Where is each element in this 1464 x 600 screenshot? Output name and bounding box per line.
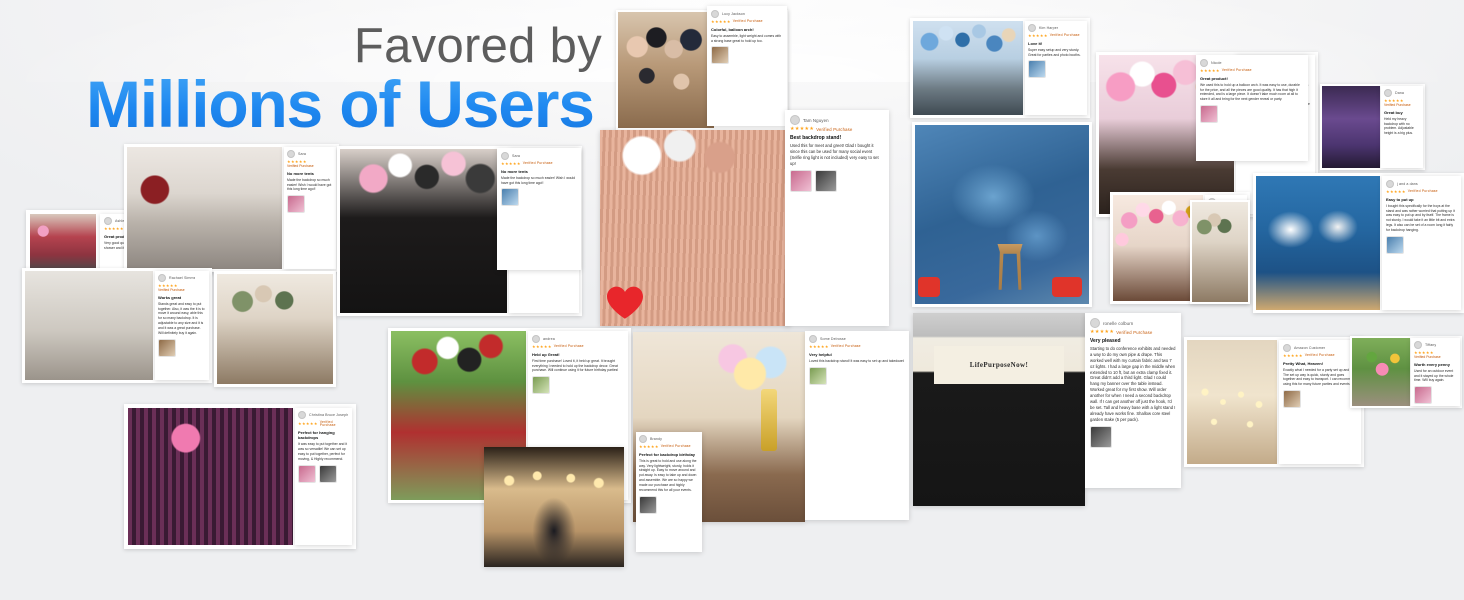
verified-purchase-badge: Verified Purchase xyxy=(1222,69,1252,72)
review-header: j and a dans xyxy=(1386,180,1457,188)
reviewer-name: andrea xyxy=(543,337,555,341)
review-body: It was easy to put together and it was s… xyxy=(298,442,349,461)
red-sandbag-right xyxy=(1052,277,1082,297)
verified-purchase-badge: Verified Purchase xyxy=(1305,354,1335,357)
stars-glyph: ★★★★★ xyxy=(809,345,829,349)
verified-purchase-badge: Verified Purchase xyxy=(1116,331,1152,335)
review-body: Used this for meet and greet! Glad I bou… xyxy=(790,143,884,167)
photo-balloon-arch-black-gold-number-2 xyxy=(618,12,714,128)
review-title: No more tents xyxy=(287,171,333,176)
review-thumbnails[interactable] xyxy=(501,188,577,206)
review-photo-thumbnail[interactable] xyxy=(639,496,657,514)
review-header: andrea xyxy=(532,335,624,343)
avatar xyxy=(711,10,719,18)
review-body: Easy to assemble, light weight and comes… xyxy=(711,34,783,44)
avatar xyxy=(1200,59,1208,67)
review-card[interactable]: Tam Nguyen ★★★★★ Verified Purchase Best … xyxy=(785,110,889,326)
verified-purchase-badge: Verified Purchase xyxy=(320,421,349,428)
reviewer-name: Sara xyxy=(298,152,306,156)
review-thumbnails[interactable] xyxy=(1414,386,1457,404)
avatar xyxy=(287,150,295,158)
review-title: Worth every penny xyxy=(1414,362,1457,367)
review-card[interactable]: Kim Harper ★★★★★ Verified Purchase Love … xyxy=(1025,21,1087,115)
gold-number-one-balloon xyxy=(761,389,777,451)
reviewer-name: Some Delrosse xyxy=(820,337,846,341)
review-photo-thumbnail[interactable] xyxy=(287,195,305,213)
star-rating: ★★★★★ Verified Purchase xyxy=(1386,190,1457,194)
review-card[interactable]: Amazon Customer ★★★★★ Verified Purchase … xyxy=(1279,340,1361,464)
review-thumbnails[interactable] xyxy=(532,376,624,394)
verified-purchase-badge: Verified Purchase xyxy=(1408,190,1438,193)
star-rating: ★★★★★ Verified Purchase xyxy=(1200,69,1304,73)
review-title: Works great xyxy=(158,295,206,300)
review-header: Some Delrosse xyxy=(809,335,905,343)
star-rating: ★★★★★ Verified Purchase xyxy=(639,445,699,449)
review-photo-thumbnail[interactable] xyxy=(501,188,519,206)
review-card[interactable]: Dana ★★★★★ Verified Purchase Great buy H… xyxy=(1381,86,1423,168)
review-title: Easy to put up xyxy=(1386,197,1457,202)
review-thumbnails[interactable] xyxy=(639,496,699,514)
review-title: No more tents xyxy=(501,169,577,174)
review-thumbnails[interactable] xyxy=(1090,426,1176,448)
review-thumbnails[interactable] xyxy=(790,170,884,192)
star-rating: ★★★★★ Verified Purchase xyxy=(501,162,577,166)
review-body: Exactly what I needed for a party set up… xyxy=(1283,368,1357,387)
photo-shark-ocean-mural-backdrop xyxy=(1256,176,1380,310)
photo-neutral-balloon-garland-macrame xyxy=(25,271,153,380)
review-thumbnails[interactable] xyxy=(298,465,349,483)
review-card[interactable]: Tiffany ★★★★★ Verified Purchase Worth ev… xyxy=(1411,338,1460,406)
review-body: I bought this specifically for the boys … xyxy=(1386,204,1457,233)
reviewer-name: Sara xyxy=(512,154,520,158)
avatar xyxy=(1090,318,1100,328)
reviewer-name: Dana xyxy=(1395,91,1404,95)
avatar xyxy=(1384,89,1392,97)
review-photo-thumbnail[interactable] xyxy=(711,46,729,64)
review-header: Nicole xyxy=(1200,59,1304,67)
review-card[interactable]: Sara ★★★★★ Verified Purchase No more ten… xyxy=(497,148,581,270)
photo-lifepurposenow-conference-booth[interactable]: LifePurposeNow! xyxy=(913,313,1085,506)
review-card[interactable]: Some Delrosse ★★★★★ Verified Purchase Ve… xyxy=(805,331,909,520)
review-photo-thumbnail[interactable] xyxy=(1200,105,1218,123)
photo-purple-draped-backdrop xyxy=(1322,86,1380,168)
reviewer-name: j and a dans xyxy=(1397,182,1418,186)
avatar xyxy=(298,411,306,419)
headline-line-2: Millions of Users xyxy=(86,69,606,140)
review-thumbnails[interactable] xyxy=(287,195,333,213)
avatar xyxy=(1028,24,1036,32)
red-sandbag-left xyxy=(918,277,940,297)
collage-tile[interactable]: Dana ★★★★★ Verified Purchase Great buy H… xyxy=(1320,84,1425,170)
review-photo-thumbnail[interactable] xyxy=(532,376,550,394)
review-body: Stands great and easy to put together. A… xyxy=(158,302,206,336)
star-rating: ★★★★★ Verified Purchase xyxy=(790,127,884,132)
review-body: Held my heavy backdrop with no problem. … xyxy=(1384,117,1420,136)
reviewer-name: Nicole xyxy=(1211,61,1222,65)
review-header: ronelle colburn xyxy=(1090,318,1176,328)
avatar xyxy=(532,335,540,343)
review-header: Tam Nguyen xyxy=(790,115,884,125)
collage-tile[interactable]: Christina Bruce Joseph ★★★★★ Verified Pu… xyxy=(124,404,356,549)
review-title: Great product! xyxy=(1200,76,1304,81)
review-body: Made the backdrop so much easier! Wish I… xyxy=(287,178,333,192)
review-thumbnails[interactable] xyxy=(1028,60,1084,78)
avatar xyxy=(809,335,817,343)
stars-glyph: ★★★★★ xyxy=(639,445,659,449)
stars-glyph: ★★★★★ xyxy=(1200,69,1220,73)
review-card[interactable]: Lucy Jackson ★★★★★ Verified Purchase Col… xyxy=(707,6,787,126)
collage-tile[interactable] xyxy=(214,271,336,387)
review-body: Super easy setup and very sturdy. Great … xyxy=(1028,48,1084,58)
review-body: Loved this backdrop stand! It was easy t… xyxy=(809,359,905,364)
review-card[interactable]: Rachael Simms ★★★★★ Verified Purchase Wo… xyxy=(155,271,209,380)
review-card[interactable]: Christina Bruce Joseph ★★★★★ Verified Pu… xyxy=(295,408,352,545)
photo-blue-balloon-arch-outdoor xyxy=(913,21,1023,115)
review-photo-thumbnail[interactable] xyxy=(319,465,337,483)
verified-purchase-badge: Verified Purchase xyxy=(733,20,763,23)
review-thumbnails[interactable] xyxy=(1200,105,1304,123)
review-thumbnails[interactable] xyxy=(158,339,206,357)
collage-tile[interactable] xyxy=(912,122,1092,307)
stars-glyph: ★★★★★ xyxy=(298,422,318,426)
photo-blue-muslin-backdrop-with-stool xyxy=(915,125,1089,304)
verified-purchase-badge: Verified Purchase xyxy=(1384,103,1420,107)
review-body: Used for an outdoor event and it stayed … xyxy=(1414,369,1457,383)
verified-purchase-badge: Verified Purchase xyxy=(831,345,861,348)
reviewer-name: Tiffany xyxy=(1425,343,1436,347)
review-title: Very pleased xyxy=(1090,338,1176,344)
review-photo-thumbnail[interactable] xyxy=(1283,390,1301,408)
reviewer-name: Rachael Simms xyxy=(169,276,195,280)
star-rating: ★★★★★ Verified Purchase xyxy=(298,421,349,428)
verified-purchase-badge: Verified Purchase xyxy=(158,288,206,292)
collage-tile[interactable]: Rachael Simms ★★★★★ Verified Purchase Wo… xyxy=(22,268,212,383)
review-photo-thumbnail[interactable] xyxy=(1090,426,1112,448)
review-header: Brandy xyxy=(639,435,699,443)
avatar xyxy=(501,152,509,160)
stars-glyph: ★★★★★ xyxy=(501,162,521,166)
review-thumbnails[interactable] xyxy=(1283,390,1357,408)
reviewer-name: Kim Harper xyxy=(1039,26,1058,30)
star-rating: ★★★★★ Verified Purchase xyxy=(1028,34,1084,38)
review-header: Tiffany xyxy=(1414,341,1457,349)
photo-christmas-santa-living-room xyxy=(127,147,282,269)
stars-glyph: ★★★★★ xyxy=(1283,354,1303,358)
review-photo-thumbnail[interactable] xyxy=(158,339,176,357)
stars-glyph: ★★★★★ xyxy=(1386,190,1406,194)
review-title: Best backdrop stand! xyxy=(790,135,884,141)
photo-rose-gold-fringe-backdrop-ring-light[interactable] xyxy=(600,130,790,326)
review-photo-thumbnail[interactable] xyxy=(1414,386,1432,404)
review-header: Lucy Jackson xyxy=(711,10,783,18)
review-card[interactable]: ronelle colburn ★★★★★ Verified Purchase … xyxy=(1085,313,1181,488)
photo-greenery-balloon-detail xyxy=(1192,202,1248,302)
review-title: Perfect for hanging backdrops xyxy=(298,430,349,440)
stars-glyph: ★★★★★ xyxy=(1090,330,1114,335)
reviewer-name: Christina Bruce Joseph xyxy=(309,413,348,417)
review-body: Made the backdrop so much easier! Wish I… xyxy=(501,176,577,186)
review-header: Rachael Simms xyxy=(158,274,206,282)
reviewer-name: Tam Nguyen xyxy=(803,118,829,123)
reviewer-name: ronelle colburn xyxy=(1103,321,1133,326)
collage-tile[interactable] xyxy=(1190,200,1250,304)
verified-purchase-badge: Verified Purchase xyxy=(287,164,333,168)
photo-window-greenery-balloon-arch xyxy=(217,274,333,384)
avatar xyxy=(790,115,800,125)
verified-purchase-badge: Verified Purchase xyxy=(1414,355,1457,359)
booth-banner-text: LifePurposeNow! xyxy=(934,346,1065,385)
review-header: Kim Harper xyxy=(1028,24,1084,32)
photo-girl-baby-blocks-pink-sequin-backdrop xyxy=(128,408,293,545)
review-card[interactable]: Nicole ★★★★★ Verified Purchase Great pro… xyxy=(1196,55,1308,161)
avatar xyxy=(1283,344,1291,352)
heart-icon xyxy=(604,284,646,320)
review-photo-thumbnail[interactable] xyxy=(1028,60,1046,78)
reviewer-name: Amazon Customer xyxy=(1294,346,1325,350)
review-thumbnails[interactable] xyxy=(809,367,905,385)
review-title: Very helpful xyxy=(809,352,905,357)
review-title: Love it! xyxy=(1028,41,1084,46)
photo-wedding-couple-string-lights-curtain[interactable] xyxy=(484,447,624,567)
review-thumbnails[interactable] xyxy=(711,46,783,64)
review-title: Colorful, balloon arch! xyxy=(711,27,783,32)
collage-tile[interactable]: j and a dans ★★★★★ Verified Purchase Eas… xyxy=(1253,173,1464,313)
review-body: Starting to do conference exhibits and n… xyxy=(1090,346,1176,423)
review-header: Christina Bruce Joseph xyxy=(298,411,349,419)
verified-purchase-badge: Verified Purchase xyxy=(1050,34,1080,37)
review-title: Perfect for backdrop birthday xyxy=(639,452,699,457)
review-card[interactable]: Sara ★★★★★ Verified Purchase No more ten… xyxy=(284,147,336,269)
review-thumbnails[interactable] xyxy=(1386,236,1457,254)
stars-glyph: ★★★★★ xyxy=(532,345,552,349)
star-rating: ★★★★★ Verified Purchase xyxy=(1283,354,1357,358)
stars-glyph: ★★★★★ xyxy=(104,227,124,231)
star-rating: ★★★★★ Verified Purchase xyxy=(532,345,624,349)
page-title: Favored by Millions of Users xyxy=(86,22,606,140)
photo-string-light-curtain-banner-backdrop xyxy=(1187,340,1277,464)
photo-flamingo-tropical-greenery-wall xyxy=(1352,338,1410,406)
review-body: First time purchase! Loved it, it held u… xyxy=(532,359,624,373)
review-header: Sara xyxy=(287,150,333,158)
collage-tile[interactable]: Sara ★★★★★ Verified Purchase No more ten… xyxy=(124,144,339,272)
avatar xyxy=(158,274,166,282)
avatar xyxy=(1386,180,1394,188)
star-rating: ★★★★★ Verified Purchase xyxy=(1090,330,1176,335)
review-photo-thumbnail[interactable] xyxy=(1386,236,1404,254)
review-header: Sara xyxy=(501,152,577,160)
review-title: Held up Great! xyxy=(532,352,624,357)
review-title: Great buy xyxy=(1384,110,1420,115)
stars-glyph: ★★★★★ xyxy=(711,20,731,24)
photo-pink-barn-balloon-setup xyxy=(30,214,96,271)
stars-glyph: ★★★★★ xyxy=(1028,34,1048,38)
collage-tile[interactable]: Tiffany ★★★★★ Verified Purchase Worth ev… xyxy=(1350,336,1462,408)
verified-purchase-badge: Verified Purchase xyxy=(523,162,553,165)
verified-purchase-badge: Verified Purchase xyxy=(554,345,584,348)
verified-purchase-badge: Verified Purchase xyxy=(816,128,852,132)
stool-shape xyxy=(995,244,1025,290)
star-rating: ★★★★★ Verified Purchase xyxy=(711,20,783,24)
review-card[interactable]: j and a dans ★★★★★ Verified Purchase Eas… xyxy=(1382,176,1461,310)
stars-glyph: ★★★★★ xyxy=(790,127,814,132)
review-header: Amazon Customer xyxy=(1283,344,1357,352)
reviewer-name: Brandy xyxy=(650,437,662,441)
review-photo-thumbnail[interactable] xyxy=(790,170,812,192)
review-title: Pretty What, Heaven! xyxy=(1283,361,1357,366)
avatar xyxy=(639,435,647,443)
star-rating: ★★★★★ Verified Purchase xyxy=(809,345,905,349)
photo-black-pink-panda-oh-baby-backdrop xyxy=(340,149,507,313)
headline-line-1: Favored by xyxy=(86,22,606,71)
collage-tile[interactable]: Amazon Customer ★★★★★ Verified Purchase … xyxy=(1184,337,1364,467)
review-header: Dana xyxy=(1384,89,1420,97)
review-card[interactable]: Brandy ★★★★★ Verified Purchase Perfect f… xyxy=(636,432,702,552)
collage-tile[interactable]: Kim Harper ★★★★★ Verified Purchase Love … xyxy=(910,18,1090,118)
reviewer-name: Lucy Jackson xyxy=(722,12,745,16)
review-photo-thumbnail[interactable] xyxy=(298,465,316,483)
review-photo-thumbnail[interactable] xyxy=(815,170,837,192)
review-body: This is great to hold and use along the … xyxy=(639,459,699,493)
promo-banner: Favored by Millions of Users Ashley ★★★★… xyxy=(0,0,1464,600)
avatar xyxy=(1414,341,1422,349)
verified-purchase-badge: Verified Purchase xyxy=(661,445,691,448)
avatar xyxy=(104,217,112,225)
review-photo-thumbnail[interactable] xyxy=(809,367,827,385)
review-body: We used this to hold up a balloon arch. … xyxy=(1200,83,1304,102)
